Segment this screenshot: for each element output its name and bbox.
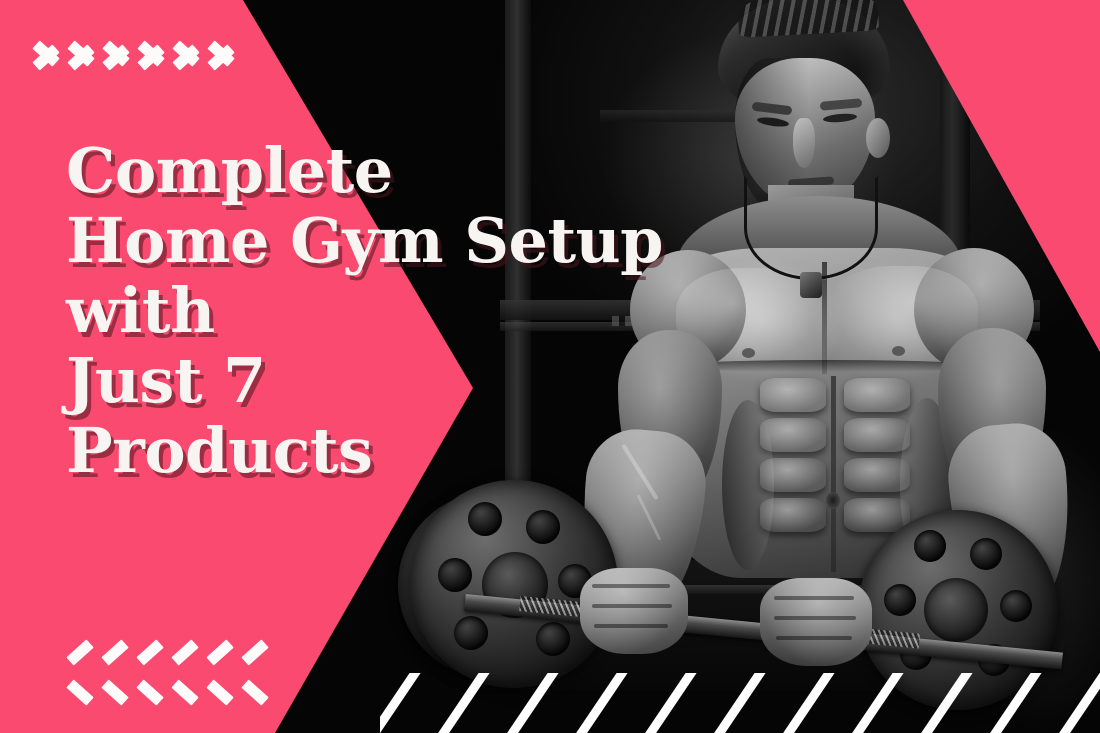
diagonal-stripe bbox=[1046, 673, 1100, 733]
chevron-right-icon bbox=[209, 28, 235, 84]
diagonal-stripe bbox=[632, 673, 708, 733]
subject-pendant bbox=[800, 272, 822, 298]
diagonal-stripe bbox=[839, 673, 915, 733]
subject-linea-alba bbox=[831, 376, 836, 572]
weight-plate-hub-right bbox=[924, 578, 988, 642]
subject-hand-right bbox=[760, 578, 872, 666]
subject-navel bbox=[826, 492, 840, 509]
chevron-right-icon bbox=[34, 28, 60, 84]
subject-chest-detail-right bbox=[892, 346, 905, 356]
chevron-right-icon bbox=[174, 28, 200, 84]
chevron-right-icon bbox=[69, 28, 95, 84]
diagonal-stripe bbox=[701, 673, 777, 733]
chevron-left-icon bbox=[151, 645, 177, 701]
chevron-left-icon bbox=[186, 645, 212, 701]
subject-ear bbox=[866, 118, 890, 158]
chevron-left-icon bbox=[116, 645, 142, 701]
diagonal-stripe-group bbox=[380, 673, 1100, 733]
diagonal-stripe bbox=[425, 673, 501, 733]
diagonal-stripe bbox=[494, 673, 570, 733]
subject-chest-detail-left bbox=[742, 348, 755, 358]
chevron-right-icon bbox=[139, 28, 165, 84]
bottom-chevron-group bbox=[46, 645, 256, 701]
diagonal-stripe bbox=[380, 673, 431, 733]
chevron-left-icon bbox=[46, 645, 72, 701]
chevron-right-icon bbox=[104, 28, 130, 84]
diagonal-stripe bbox=[563, 673, 639, 733]
subject-necklace bbox=[744, 176, 878, 280]
diagonal-stripe bbox=[908, 673, 984, 733]
subject-oblique-left bbox=[722, 400, 774, 570]
subject-hand-left bbox=[580, 568, 688, 654]
chevron-left-icon bbox=[221, 645, 247, 701]
diagonal-stripe bbox=[977, 673, 1053, 733]
gym-rack-post-left bbox=[505, 0, 531, 520]
hero-banner: Complete Home Gym Setup with Just 7 Prod… bbox=[0, 0, 1100, 733]
diagonal-stripe bbox=[770, 673, 846, 733]
chevron-left-icon bbox=[81, 645, 107, 701]
subject-nose bbox=[793, 118, 815, 168]
top-chevron-group bbox=[34, 28, 244, 84]
